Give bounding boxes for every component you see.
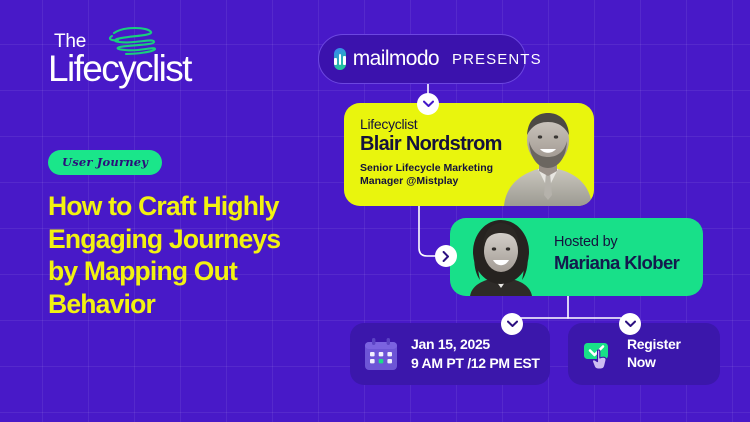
- host-label: Hosted by: [554, 234, 679, 250]
- register-card[interactable]: Register Now: [568, 323, 720, 385]
- date-line2: 9 AM PT /12 PM EST: [411, 354, 540, 373]
- speaker-name: Blair Nordstrom: [360, 133, 510, 156]
- register-line1: Register: [627, 336, 681, 354]
- chevron-down-icon-date: [501, 313, 523, 335]
- chevron-right-icon-host: [435, 245, 457, 267]
- register-text-block: Register Now: [627, 336, 681, 372]
- speaker-title: Senior Lifecycle Marketing Manager @Mist…: [360, 162, 510, 189]
- mailmodo-presents-card: mailmodo PRESENTS: [318, 34, 526, 84]
- speaker-card: Lifecyclist Blair Nordstrom Senior Lifec…: [344, 103, 594, 206]
- flow-diagram: mailmodo PRESENTS Lifecyclist Blair Nord…: [0, 0, 750, 422]
- host-card: Hosted by Mariana Klober: [450, 218, 703, 296]
- calendar-icon: [364, 337, 398, 371]
- poster-canvas: The Lifecyclist User Journey How to Craf…: [0, 0, 750, 422]
- speaker-role: Lifecyclist: [360, 116, 510, 132]
- presents-label: PRESENTS: [452, 51, 542, 68]
- date-line1: Jan 15, 2025: [411, 335, 540, 354]
- chevron-down-icon-speaker: [417, 93, 439, 115]
- host-name: Mariana Klober: [554, 252, 679, 274]
- speaker-photo: [498, 103, 594, 206]
- mailmodo-logo-icon: [334, 48, 346, 70]
- speaker-title-line1: Senior Lifecycle Marketing: [360, 162, 493, 174]
- speaker-text-block: Lifecyclist Blair Nordstrom Senior Lifec…: [360, 116, 510, 189]
- host-photo: [462, 218, 540, 296]
- click-check-icon: [582, 337, 616, 371]
- date-text-block: Jan 15, 2025 9 AM PT /12 PM EST: [411, 335, 540, 373]
- register-line2: Now: [627, 354, 681, 372]
- host-text-block: Hosted by Mariana Klober: [554, 234, 679, 274]
- date-card: Jan 15, 2025 9 AM PT /12 PM EST: [350, 323, 550, 385]
- speaker-title-line2: Manager @Mistplay: [360, 175, 458, 187]
- mailmodo-wordmark: mailmodo: [353, 47, 439, 71]
- chevron-down-icon-register: [619, 313, 641, 335]
